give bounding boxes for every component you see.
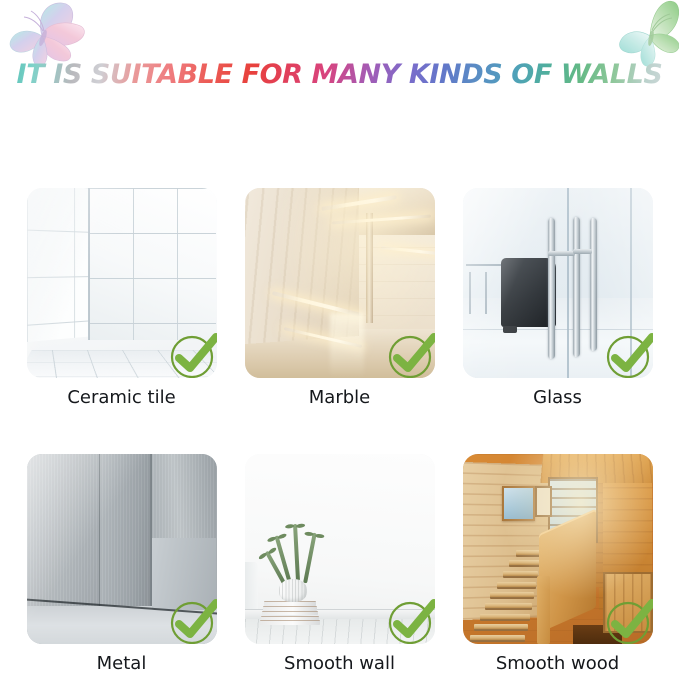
surface-card-marble[interactable]: Marble xyxy=(245,188,435,410)
surface-row-2: Metal S xyxy=(0,454,679,676)
surface-row-1: Ceramic tile xyxy=(0,188,679,410)
surface-photo-marble xyxy=(245,188,435,378)
surface-photo-glass xyxy=(463,188,653,378)
surface-card-glass[interactable]: Glass xyxy=(463,188,653,410)
surface-photo-ceramic-tile xyxy=(27,188,217,378)
green-check-icon xyxy=(385,328,435,378)
green-check-icon xyxy=(385,594,435,644)
page-title: IT IS SUITABLE FOR MANY KINDS OF WALLS xyxy=(0,58,679,92)
surface-photo-smooth-wall xyxy=(245,454,435,644)
surface-photo-metal xyxy=(27,454,217,644)
surface-photo-smooth-wood xyxy=(463,454,653,644)
surface-label: Smooth wall xyxy=(245,652,435,676)
green-check-icon xyxy=(603,328,653,378)
surface-card-smooth-wall[interactable]: Smooth wall xyxy=(245,454,435,676)
surface-label: Smooth wood xyxy=(463,652,653,676)
surface-label: Marble xyxy=(245,386,435,410)
green-check-icon xyxy=(167,328,217,378)
surface-card-smooth-wood[interactable]: Smooth wood xyxy=(463,454,653,676)
surface-card-metal[interactable]: Metal xyxy=(27,454,217,676)
surface-label: Metal xyxy=(27,652,217,676)
green-check-icon xyxy=(167,594,217,644)
surface-grid: Ceramic tile xyxy=(0,188,679,676)
green-check-icon xyxy=(603,594,653,644)
surface-label: Glass xyxy=(463,386,653,410)
surface-label: Ceramic tile xyxy=(27,386,217,410)
header-banner: IT IS SUITABLE FOR MANY KINDS OF WALLS xyxy=(0,0,679,130)
surface-card-ceramic-tile[interactable]: Ceramic tile xyxy=(27,188,217,410)
